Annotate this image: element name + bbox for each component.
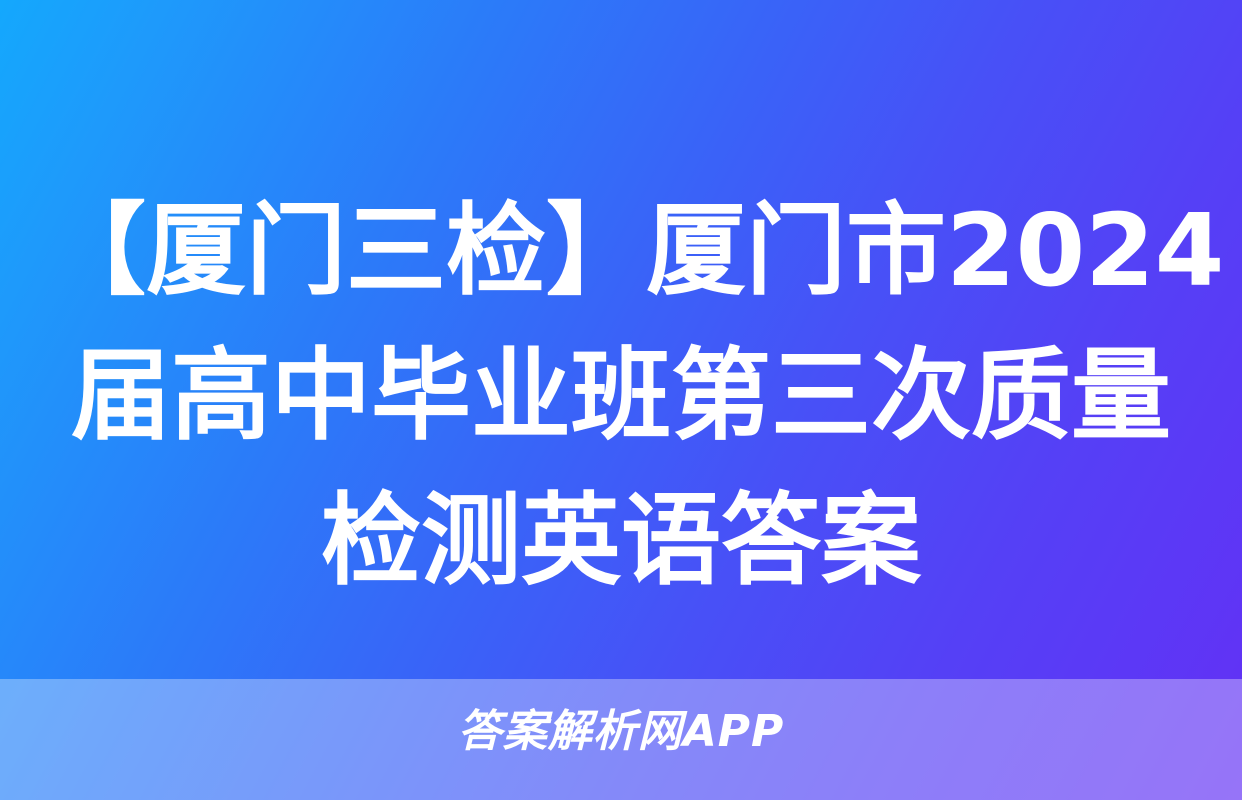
promo-banner-card: 【厦门三检】厦门市2024 届高中毕业班第三次质量 检测英语答案 答案解析网AP…: [0, 0, 1242, 800]
title-line-1: 【厦门三检】厦门市2024: [46, 178, 1196, 323]
watermark-app-label: 答案解析网APP: [458, 706, 785, 758]
page-title: 【厦门三检】厦门市2024 届高中毕业班第三次质量 检测英语答案: [0, 178, 1242, 613]
title-line-3: 检测英语答案: [46, 468, 1196, 613]
title-line-2: 届高中毕业班第三次质量: [46, 323, 1196, 468]
watermark: 答案解析网APP: [0, 706, 1242, 758]
